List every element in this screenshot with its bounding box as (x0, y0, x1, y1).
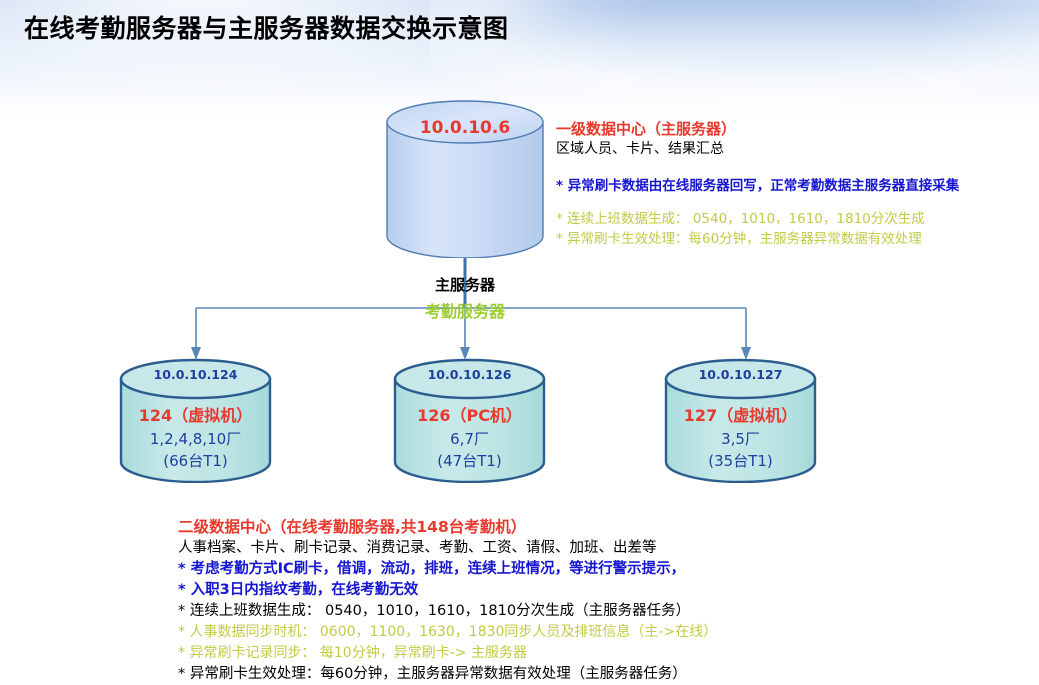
primary-notes-exception-processing: * 异常刷卡生效处理：每60分钟，主服务器异常数据有效处理 (556, 229, 1026, 249)
main-server-subtitle: 考勤服务器 (385, 298, 545, 322)
page-title: 在线考勤服务器与主服务器数据交换示意图 (24, 9, 509, 45)
secondary-notes-warning-rules: * 考虑考勤方式IC刷卡，借调，流动，排班，连续上班情况，等进行警示提示， (178, 559, 958, 580)
child-server-cylinder-124[interactable]: 10.0.10.124 124（虚拟机） 1,2,4,8,10厂 (66台T1) (118, 358, 273, 483)
secondary-notes-data-types: 人事档案、卡片、刷卡记录、消费记录、考勤、工资、请假、加班、出差等 (178, 538, 958, 559)
secondary-notes-heading: 二级数据中心（在线考勤服务器,共148台考勤机） (178, 517, 958, 538)
child-plants-127: 3,5厂 (663, 428, 818, 449)
child-count-126: (47台T1) (392, 450, 547, 471)
secondary-notes-shift-generation: * 连续上班数据生成： 0540，1010，1610，1810分次生成（主服务器… (178, 601, 958, 622)
child-count-127: (35台T1) (663, 450, 818, 471)
primary-notes-heading: 一级数据中心（主服务器） (556, 119, 1026, 139)
child-ip-126: 10.0.10.126 (392, 367, 547, 382)
child-plants-126: 6,7厂 (392, 428, 547, 449)
child-ip-124: 10.0.10.124 (118, 367, 273, 382)
secondary-datacenter-notes: 二级数据中心（在线考勤服务器,共148台考勤机） 人事档案、卡片、刷卡记录、消费… (178, 517, 958, 685)
child-plants-124: 1,2,4,8,10厂 (118, 428, 273, 449)
primary-notes-scope: 区域人员、卡片、结果汇总 (556, 139, 1026, 159)
child-count-124: (66台T1) (118, 450, 273, 471)
primary-notes-writeback: * 异常刷卡数据由在线服务器回写，正常考勤数据主服务器直接采集 (556, 177, 1026, 195)
primary-notes-shift-generation: * 连续上班数据生成： 0540，1010，1610，1810分次生成 (556, 209, 1026, 229)
child-ip-127: 10.0.10.127 (663, 367, 818, 382)
main-server-ip: 10.0.10.6 (385, 118, 545, 138)
child-title-124: 124（虚拟机） (118, 402, 273, 426)
secondary-notes-exception-sync: * 异常刷卡记录同步： 每10分钟，异常刷卡-> 主服务器 (178, 643, 958, 664)
secondary-notes-hr-sync: * 人事数据同步时机： 0600，1100，1630，1830同步人员及排班信息… (178, 622, 958, 643)
child-server-cylinder-127[interactable]: 10.0.10.127 127（虚拟机） 3,5厂 (35台T1) (663, 358, 818, 483)
secondary-notes-exception-processing: * 异常刷卡生效处理：每60分钟，主服务器异常数据有效处理（主服务器任务） (178, 664, 958, 685)
main-server-name: 主服务器 (385, 274, 545, 295)
child-title-127: 127（虚拟机） (663, 402, 818, 426)
child-server-cylinder-126[interactable]: 10.0.10.126 126（PC机） 6,7厂 (47台T1) (392, 358, 547, 483)
secondary-notes-fingerprint-rule: * 入职3日内指纹考勤，在线考勤无效 (178, 580, 958, 601)
primary-datacenter-notes: 一级数据中心（主服务器） 区域人员、卡片、结果汇总 * 异常刷卡数据由在线服务器… (556, 119, 1026, 249)
child-title-126: 126（PC机） (392, 402, 547, 426)
main-server-cylinder[interactable]: 10.0.10.6 主服务器 考勤服务器 (385, 100, 545, 258)
